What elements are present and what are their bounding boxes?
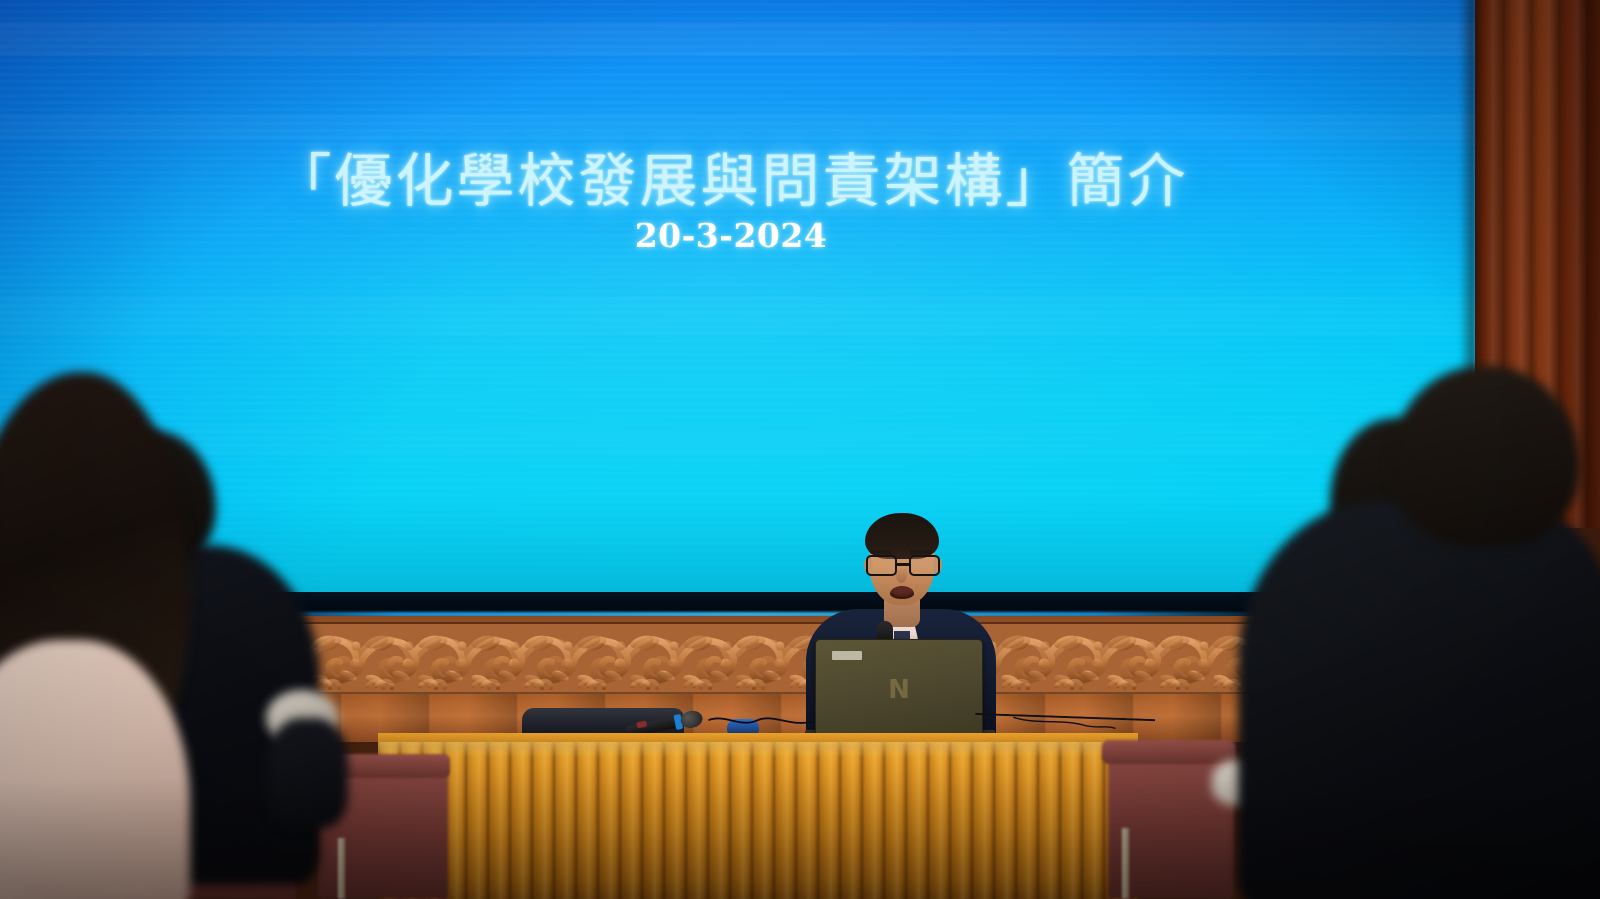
auditorium-seat-arm (1102, 740, 1236, 764)
table-skirt (378, 742, 1138, 899)
laptop: Ν (815, 639, 983, 737)
table-cable (700, 712, 820, 730)
presentation-photo: 「優化學校發展與問責架構」簡介 20-3-2024 (0, 0, 1600, 899)
glasses-lens-left (866, 555, 897, 576)
presenter-eyebrow-left (870, 550, 892, 554)
auditorium-seat-post (1122, 828, 1129, 899)
glasses-bridge (897, 563, 909, 566)
presenter-mouth (890, 586, 914, 599)
auditorium-seat-post (338, 838, 345, 899)
presenter-eyebrow-right (910, 550, 932, 554)
audience-man-right-a-body (1238, 500, 1600, 899)
glasses-lens-right (909, 555, 940, 576)
presenter-nose (896, 567, 907, 583)
audience-man-right-a-head (1390, 366, 1580, 546)
screen-vignette (0, 0, 1496, 621)
laptop-logo: Ν (888, 675, 910, 705)
audience-man-left-arm (268, 718, 348, 828)
table-skirt-hem (378, 742, 1138, 758)
laptop-badge (832, 651, 862, 660)
projection-screen: 「優化學校發展與問責架構」簡介 20-3-2024 (0, 0, 1496, 621)
carved-scrollwork-panel (252, 622, 1310, 694)
presentation-table (378, 733, 1138, 899)
